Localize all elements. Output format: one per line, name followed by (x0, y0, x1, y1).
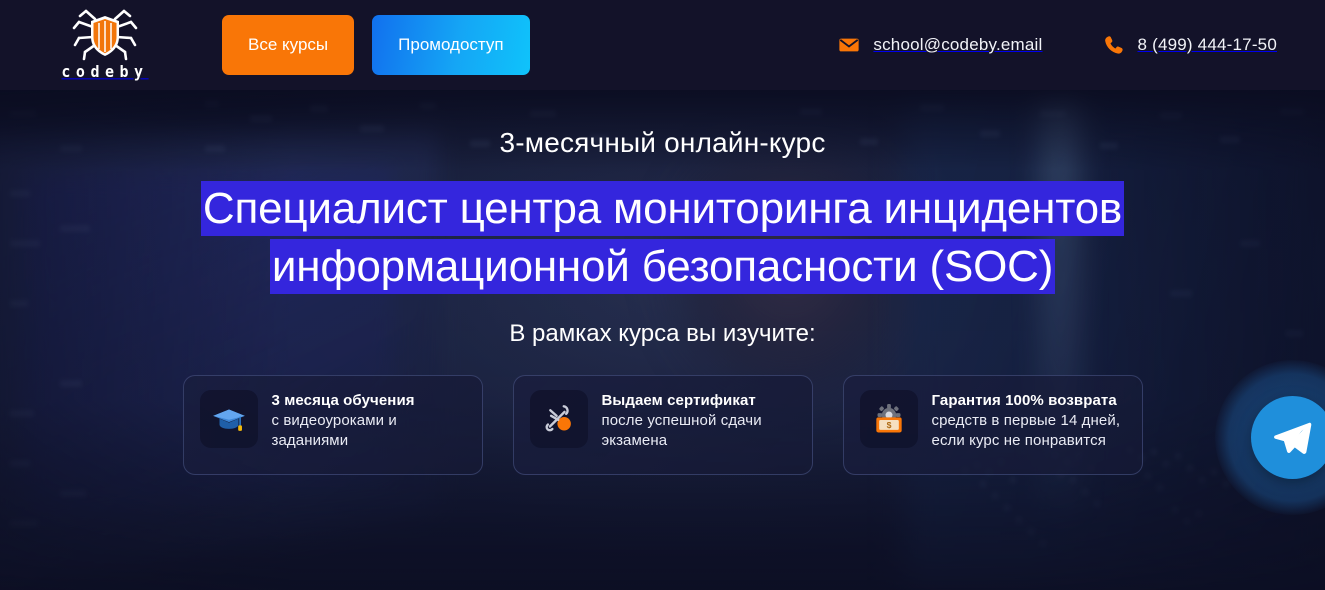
page-root: codeby Все курсы Промодоступ school@code… (0, 0, 1325, 590)
certificate-icon (540, 400, 578, 438)
graduation-cap-icon (210, 400, 248, 438)
card-icon-wrap (200, 390, 258, 448)
feature-cards: 3 месяца обучения с видеоуроками и задан… (183, 375, 1143, 475)
phone-text: 8 (499) 444-17-50 (1138, 35, 1278, 55)
feature-card-guarantee: $ Гарантия 100% возврата средств в первы… (843, 375, 1143, 475)
card-title: Выдаем сертификат (602, 391, 798, 411)
card-text: Выдаем сертификат после успешной сдачи э… (602, 390, 798, 450)
telegram-float-wrap (1215, 360, 1325, 515)
card-description: после успешной сдачи экзамена (602, 411, 798, 450)
header-contacts: school@codeby.email 8 (499) 444-17-50 (838, 34, 1325, 56)
card-icon-wrap (530, 390, 588, 448)
card-description: с видеоуроками и заданиями (272, 411, 468, 450)
header-nav: Все курсы Промодоступ (222, 15, 530, 75)
card-icon-wrap: $ (860, 390, 918, 448)
hero-title-line-1: Специалист центра мониторинга инцидентов (201, 181, 1124, 236)
spider-shield-logo-icon (72, 9, 138, 61)
feature-card-duration: 3 месяца обучения с видеоуроками и задан… (183, 375, 483, 475)
promo-access-button[interactable]: Промодоступ (372, 15, 529, 75)
envelope-icon (838, 34, 860, 56)
hero-subtitle: В рамках курса вы изучите: (509, 320, 815, 348)
logo-wordmark: codeby (61, 63, 148, 82)
all-courses-button[interactable]: Все курсы (222, 15, 354, 75)
card-text: Гарантия 100% возврата средств в первые … (932, 390, 1128, 450)
site-header: codeby Все курсы Промодоступ school@code… (0, 0, 1325, 90)
card-title: Гарантия 100% возврата (932, 391, 1128, 411)
card-text: 3 месяца обучения с видеоуроками и задан… (272, 390, 468, 450)
feature-card-certificate: Выдаем сертификат после успешной сдачи э… (513, 375, 813, 475)
money-back-icon: $ (870, 400, 908, 438)
hero-content: 3-месячный онлайн-курс Специалист центра… (0, 90, 1325, 590)
hero-eyebrow: 3-месячный онлайн-курс (499, 126, 825, 160)
svg-text:$: $ (886, 420, 891, 430)
phone-contact[interactable]: 8 (499) 444-17-50 (1103, 34, 1278, 56)
hero-section: 3-месячный онлайн-курс Специалист центра… (0, 90, 1325, 590)
hero-title-line-2: информационной безопасности (SOC) (270, 239, 1055, 294)
card-description: средств в первые 14 дней, если курс не п… (932, 411, 1128, 450)
email-contact[interactable]: school@codeby.email (838, 34, 1042, 56)
telegram-paper-plane-icon (1271, 417, 1313, 459)
hero-title: Специалист центра мониторинга инцидентов… (201, 180, 1124, 296)
email-text: school@codeby.email (873, 35, 1042, 55)
phone-icon (1103, 34, 1125, 56)
telegram-button[interactable] (1251, 396, 1325, 479)
site-logo[interactable]: codeby (0, 9, 200, 81)
card-title: 3 месяца обучения (272, 391, 468, 411)
